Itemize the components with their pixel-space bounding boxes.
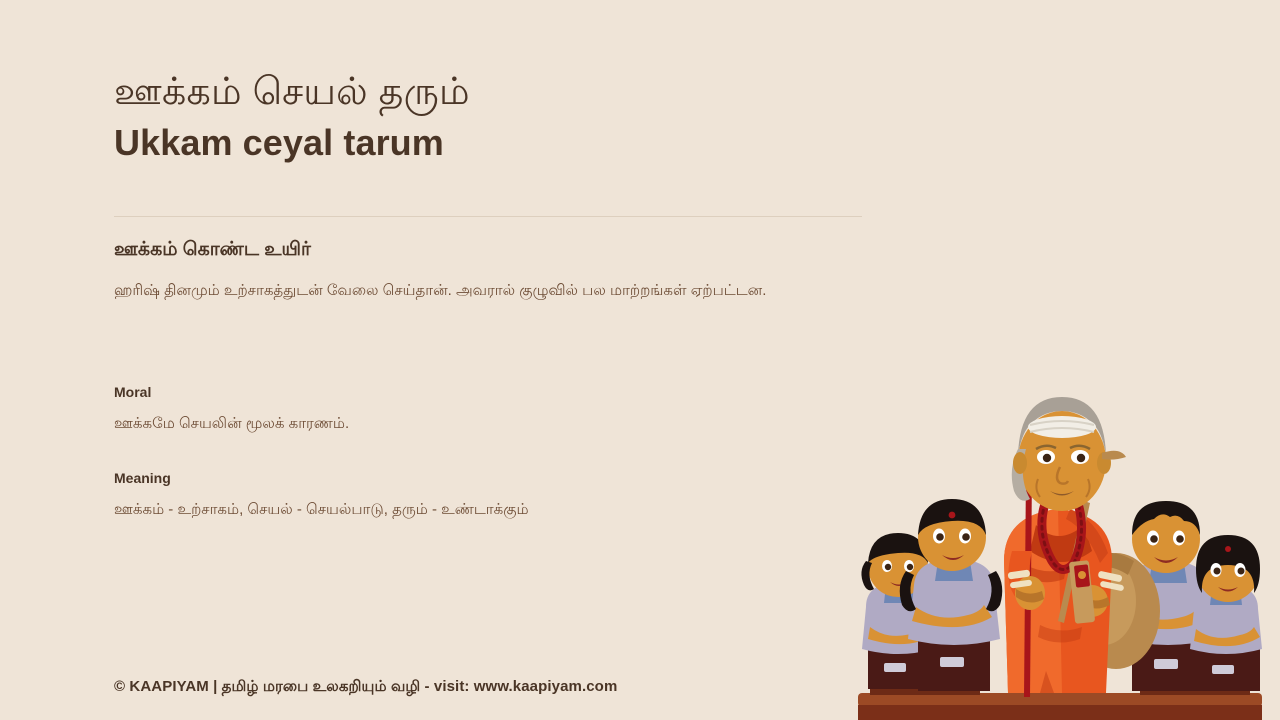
- page-root: ஊக்கம் செயல் தரும் Ukkam ceyal tarum ஊக்…: [0, 0, 1280, 720]
- meaning-label: Meaning: [114, 470, 814, 487]
- child-right-inner: [1122, 501, 1214, 691]
- story-block: ஊக்கம் கொண்ட உயிர் ஹரிஷ் தினமும் உற்சாகத…: [114, 238, 814, 303]
- cloth-bag-shape: [1072, 553, 1160, 669]
- child-left-inner: [900, 499, 1003, 691]
- swami-figure: [1004, 397, 1126, 697]
- swami-with-children-illustration: [840, 375, 1280, 720]
- story-heading: ஊக்கம் கொண்ட உயிர்: [114, 238, 814, 263]
- meaning-text: ஊக்கம் - உற்சாகம், செயல் - செயல்பாடு, தர…: [114, 499, 814, 522]
- page-title-romanized: Ukkam ceyal tarum: [114, 121, 874, 164]
- footer-credit: © KAAPIYAM | தமிழ் மரபை உலகறியும் வழி - …: [114, 678, 617, 697]
- child-left-outer: [861, 533, 934, 689]
- divider: [114, 216, 862, 217]
- moral-text: ஊக்கமே செயலின் மூலக் காரணம்.: [114, 413, 814, 436]
- page-title-tamil: ஊக்கம் செயல் தரும்: [114, 70, 874, 115]
- moral-section: Moral ஊக்கமே செயலின் மூலக் காரணம்.: [114, 384, 814, 435]
- meaning-section: Meaning ஊக்கம் - உற்சாகம், செயல் - செயல்…: [114, 470, 814, 521]
- title-block: ஊக்கம் செயல் தரும் Ukkam ceyal tarum: [114, 70, 874, 164]
- story-body: ஹரிஷ் தினமும் உற்சாகத்துடன் வேலை செய்தான…: [114, 279, 802, 303]
- moral-label: Moral: [114, 384, 814, 401]
- bench-shape: [858, 675, 1262, 720]
- child-right-outer: [1190, 535, 1262, 691]
